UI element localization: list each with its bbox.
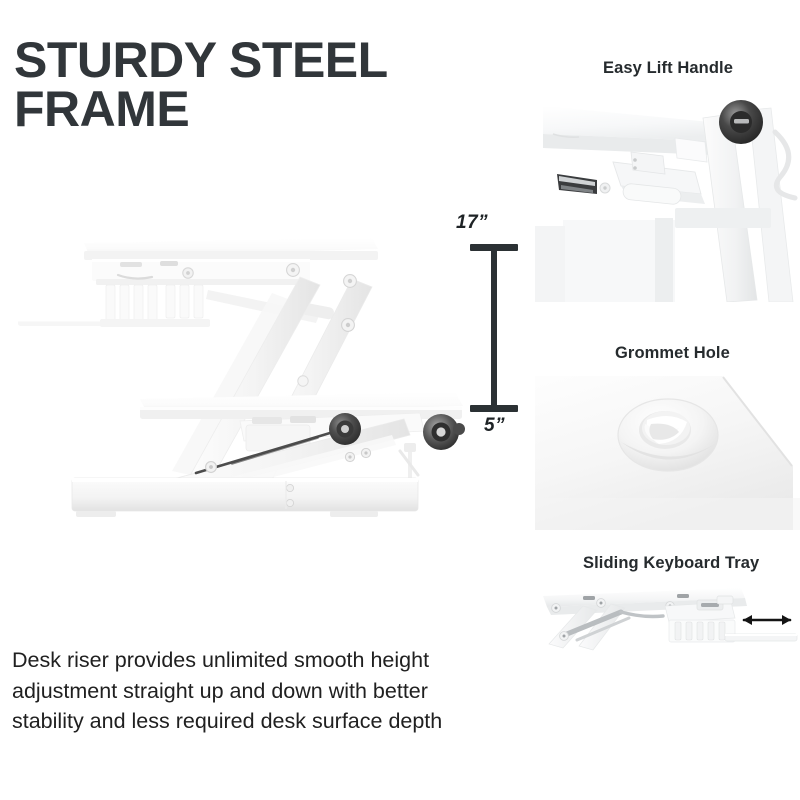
panel-caption-easy-lift-handle: Easy Lift Handle <box>603 59 733 78</box>
panel-photo-sliding-keyboard-tray <box>525 582 800 668</box>
product-hero-photo <box>0 235 480 535</box>
min-height-label: 5” <box>484 415 505 437</box>
hero-base <box>72 478 418 517</box>
page-title: Sturdy Steel Frame <box>14 36 484 134</box>
description-paragraph: Desk riser provides unlimited smooth hei… <box>12 645 452 737</box>
panel-photo-grommet-hole <box>535 372 800 530</box>
feature-panel-grommet-hole: Grommet Hole <box>520 338 800 530</box>
hero-upper-deck <box>18 238 378 327</box>
caliper-bottom-tick <box>470 405 518 412</box>
panel-caption-sliding-keyboard-tray: Sliding Keyboard Tray <box>583 554 759 573</box>
panel-caption-grommet-hole: Grommet Hole <box>615 344 730 363</box>
max-height-label: 17” <box>456 212 488 234</box>
page-title-line-2: Frame <box>14 85 484 134</box>
feature-panel-sliding-keyboard-tray: Sliding Keyboard Tray <box>520 548 800 668</box>
panel-photo-easy-lift-handle <box>535 90 800 302</box>
feature-panel-easy-lift-handle: Easy Lift Handle <box>520 52 800 302</box>
height-range-indicator: 17” 5” <box>452 212 526 448</box>
caliper-stem <box>491 248 497 408</box>
page-title-line-1: Sturdy Steel <box>14 32 388 88</box>
